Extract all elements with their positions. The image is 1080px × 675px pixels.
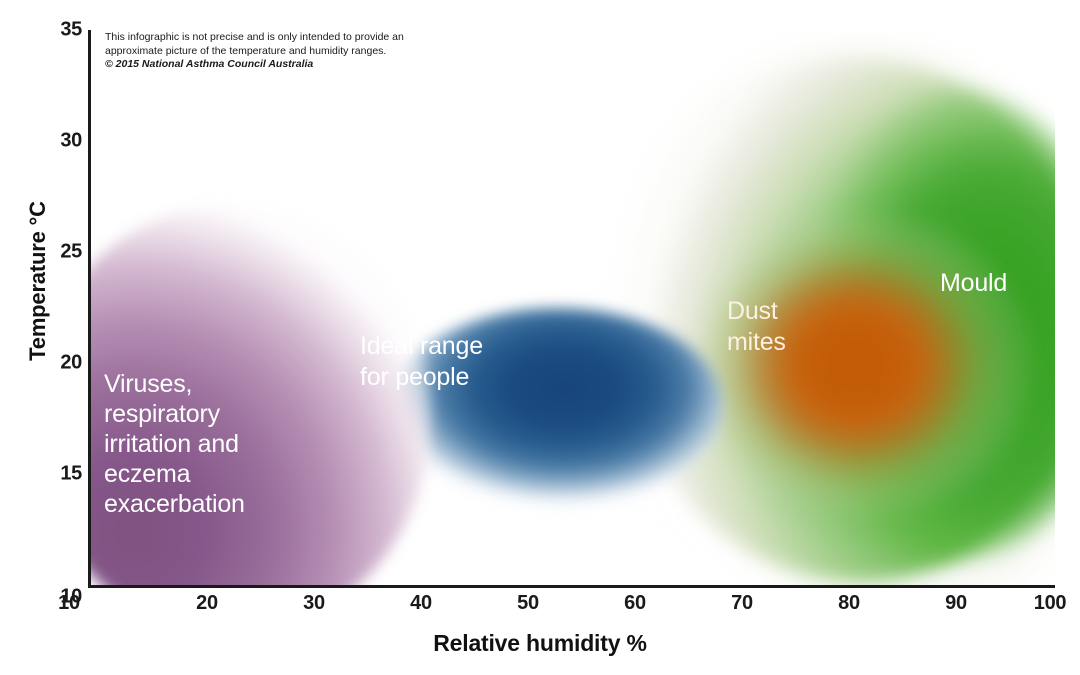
disclaimer-note: This infographic is not precise and is o… <box>105 31 435 72</box>
region-label-mould: Mould <box>940 268 1007 299</box>
x-tick-50: 50 <box>517 592 539 615</box>
y-tick-15: 15 <box>36 463 82 486</box>
x-tick-60: 60 <box>624 592 646 615</box>
y-tick-30: 30 <box>36 130 82 153</box>
y-axis-title: Temperature °C <box>25 151 51 411</box>
y-axis-line <box>88 30 91 587</box>
x-tick-80: 80 <box>838 592 860 615</box>
x-tick-20: 20 <box>196 592 218 615</box>
region-label-dust-mites: Dust mites <box>727 296 786 358</box>
x-tick-30: 30 <box>303 592 325 615</box>
x-tick-70: 70 <box>731 592 753 615</box>
disclaimer-line-1: This infographic is not precise and is o… <box>105 31 435 45</box>
x-axis-tick-labels: 10 20 30 40 50 60 70 80 90 100 <box>0 592 1080 620</box>
y-tick-35: 35 <box>36 19 82 42</box>
region-dust-mites <box>704 215 1034 515</box>
region-label-viruses: Viruses, respiratory irritation and ecze… <box>104 369 245 519</box>
copyright-line: © 2015 National Asthma Council Australia <box>105 58 435 72</box>
region-label-ideal-range: Ideal range for people <box>360 331 483 393</box>
x-axis-title: Relative humidity % <box>0 630 1080 657</box>
infographic-root: Viruses, respiratory irritation and ecze… <box>0 0 1080 675</box>
x-tick-10: 10 <box>58 592 80 615</box>
disclaimer-line-2: approximate picture of the temperature a… <box>105 45 435 59</box>
x-tick-40: 40 <box>410 592 432 615</box>
x-tick-90: 90 <box>945 592 967 615</box>
x-tick-100: 100 <box>1034 592 1066 615</box>
x-axis-line <box>88 585 1055 588</box>
